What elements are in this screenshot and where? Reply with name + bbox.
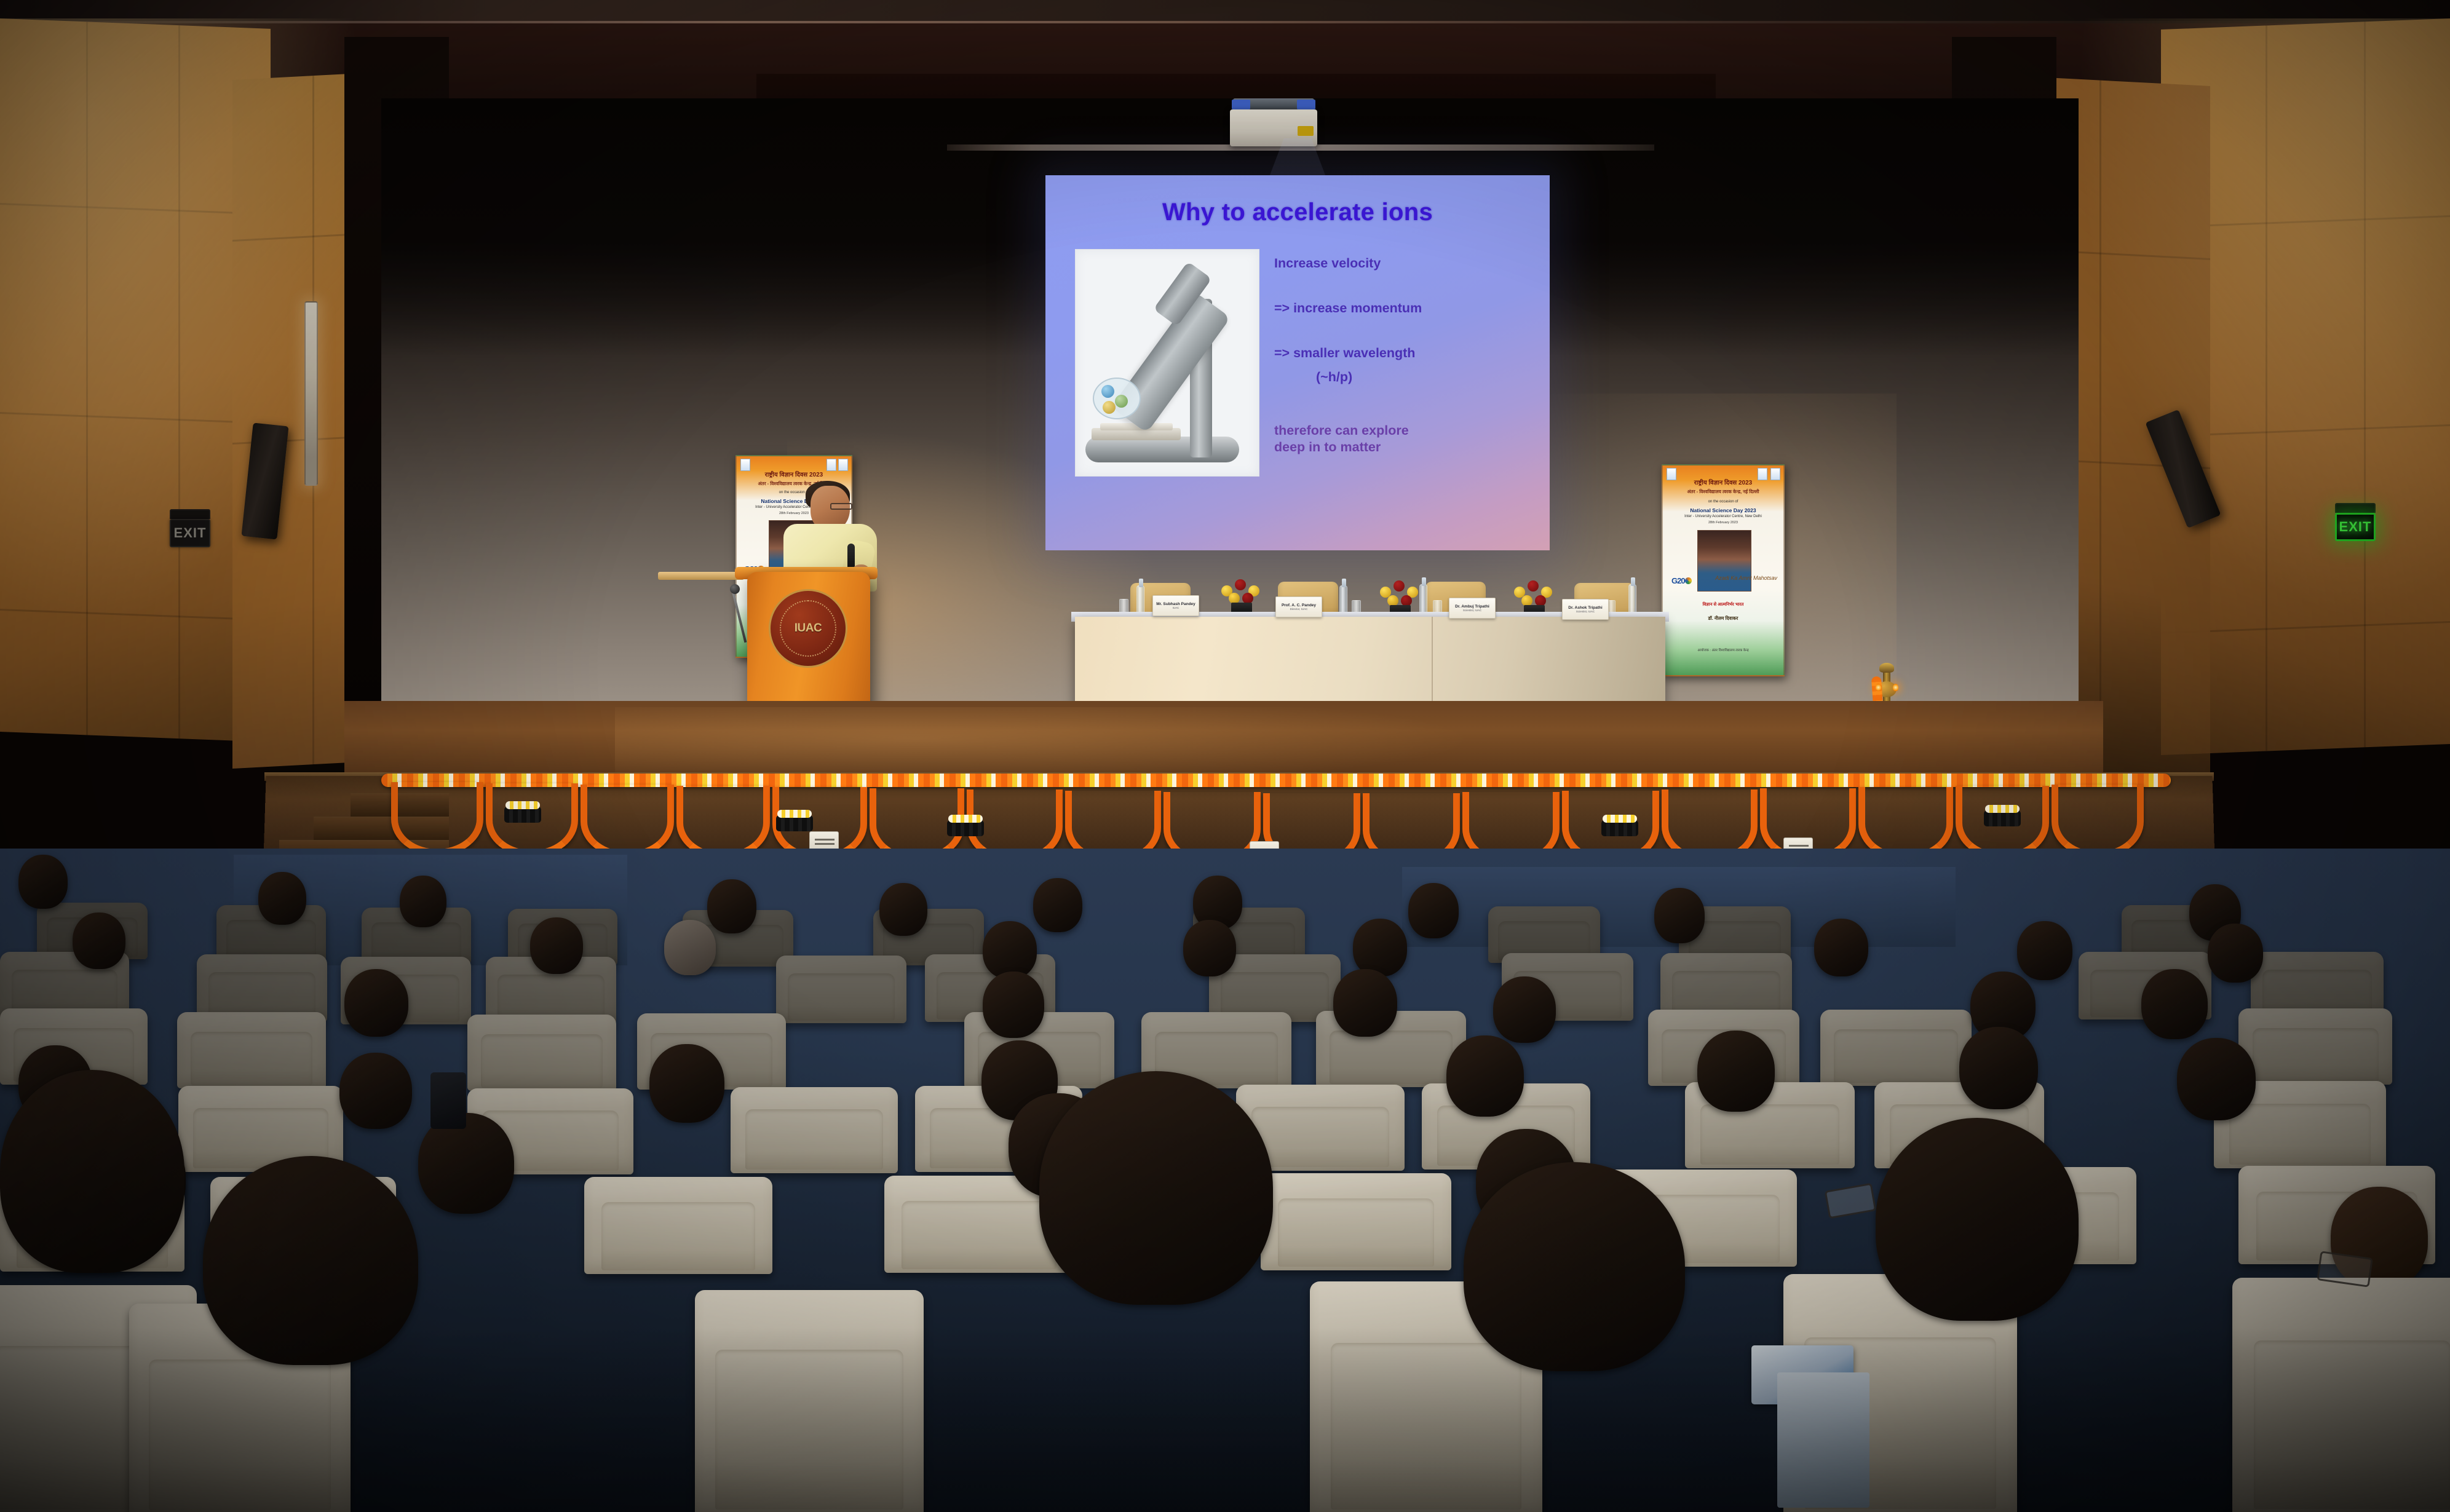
auditorium-seat <box>2238 1008 2392 1085</box>
slide-bullet-1: Increase velocity <box>1274 255 1539 272</box>
projector-mount <box>1233 98 1314 111</box>
auditorium-seat <box>776 956 906 1023</box>
banner-right-guest: डॉ. नीलम दिवाकर <box>1663 615 1783 622</box>
audience-head <box>530 917 583 974</box>
name-card: Dr. Ambuj Tripathi Scientist, IUAC <box>1449 598 1496 619</box>
audience-head <box>707 879 756 933</box>
auditorium-photo: EXIT EXIT Why to accelerate ions <box>0 0 2450 1512</box>
name-card-role: Director, IUAC <box>1290 608 1308 611</box>
slide-bullet-4-line1: therefore can explore <box>1274 422 1539 440</box>
audience-head <box>73 912 125 969</box>
audience-head-foreground <box>1039 1071 1273 1305</box>
audience-head <box>649 1044 724 1123</box>
auditorium-seat <box>1261 1173 1451 1270</box>
audience-head <box>1033 878 1082 932</box>
marigold-swag <box>581 785 674 858</box>
audience-head <box>1353 919 1407 976</box>
auditorium-seat <box>731 1087 898 1173</box>
name-card-role: IUAC <box>1173 606 1179 609</box>
exit-sign-left: EXIT <box>170 519 210 547</box>
slide-bullet-4-line2: deep in to matter <box>1274 439 1539 456</box>
audience-head <box>1183 920 1236 976</box>
garland-tuft <box>1601 820 1638 836</box>
banner-right-national-science-day: राष्ट्रीय विज्ञान दिवस 2023 अंतर - विश्व… <box>1662 464 1785 676</box>
glasses-icon <box>830 503 852 510</box>
name-card-name: Prof. A. C. Pandey <box>1282 603 1316 608</box>
iuac-emblem-label: IUAC <box>795 622 822 635</box>
flower-vase <box>1218 577 1266 615</box>
g20-logo-right: G20 <box>1671 576 1692 585</box>
auditorium-seat <box>467 1015 616 1091</box>
auditorium-seat <box>2232 1278 2450 1512</box>
exit-sign-right: EXIT <box>2335 513 2376 541</box>
garland-tuft <box>776 815 813 831</box>
banner-right-hindi-title: राष्ट्रीय विज्ञान दिवस 2023 <box>1663 478 1783 486</box>
auditorium-seat <box>584 1177 772 1274</box>
auditorium-seat <box>695 1290 924 1512</box>
audience-head <box>1654 888 1705 943</box>
g20-label-right: G20 <box>1671 576 1685 585</box>
audience-head <box>1493 976 1556 1043</box>
mobile-phone-icon <box>430 1072 466 1129</box>
marigold-swag <box>2052 785 2144 858</box>
auditorium-seat <box>177 1012 326 1088</box>
audience-head <box>879 883 927 936</box>
name-card: Dr. Ashok Tripathi Scientist, IUAC <box>1562 599 1609 620</box>
left-wall-acoustic-panels <box>0 18 271 742</box>
iuac-emblem-icon: IUAC <box>769 589 847 668</box>
garland-tuft <box>1984 810 2021 826</box>
banner-right-en-title: National Science Day 2023 <box>1663 507 1783 513</box>
name-card-role: Scientist, IUAC <box>1576 610 1595 613</box>
microphone-head-icon <box>730 584 740 594</box>
audience-head <box>983 972 1044 1038</box>
name-card-name: Dr. Ashok Tripathi <box>1568 606 1602 610</box>
slide-bullet-list: Increase velocity => increase momentum =… <box>1274 255 1539 456</box>
audience-head <box>2177 1038 2256 1120</box>
audience-head <box>1446 1035 1524 1117</box>
slide-bullet-3b: (~h/p) <box>1274 369 1539 386</box>
audience-head <box>339 1053 412 1129</box>
audience-head <box>1814 919 1868 976</box>
auditorium-seat <box>1820 1010 1972 1086</box>
slide-bullet-3: => smaller wavelength <box>1274 345 1539 362</box>
banner-right-date: 28th February 2023 <box>1663 521 1783 524</box>
audience-head <box>1697 1031 1775 1112</box>
name-card-name: Dr. Ambuj Tripathi <box>1455 604 1489 609</box>
audience-head <box>664 920 716 975</box>
podium-side-rail <box>658 572 744 580</box>
audience-head <box>1959 1027 2038 1109</box>
garland-tuft <box>504 807 541 823</box>
exit-sign-hood-right <box>2335 503 2376 513</box>
slide-figure-microscope <box>1075 249 1259 477</box>
audience-head-foreground <box>0 1070 184 1273</box>
ceiling-soffit <box>0 0 2450 21</box>
audience-head <box>2017 921 2072 980</box>
name-card: Mr. Subhash Pandey IUAC <box>1152 595 1199 616</box>
banner-left-hindi-title: राष्ट्रीय विज्ञान दिवस 2023 <box>737 470 851 478</box>
name-card: Prof. A. C. Pandey Director, IUAC <box>1275 596 1322 617</box>
audience-head <box>1408 883 1459 938</box>
banner-right-portrait <box>1697 530 1751 592</box>
audience-head <box>400 876 446 927</box>
audience-head <box>1333 969 1397 1037</box>
slide-bullet-2: => increase momentum <box>1274 300 1539 317</box>
name-card-role: Scientist, IUAC <box>1463 609 1481 612</box>
exit-sign-hood-left <box>170 509 210 519</box>
audience-head <box>258 872 306 925</box>
audience-head <box>18 855 68 909</box>
audience-head <box>344 969 408 1037</box>
presentation-slide: Why to accelerate ions Increase velocity… <box>1045 175 1550 550</box>
azadi-logo-right: Azadi Ka Amrit Mahotsav <box>1715 575 1777 581</box>
slide-title: Why to accelerate ions <box>1045 199 1550 226</box>
audience-head-foreground <box>203 1156 418 1365</box>
banner-right-occasion: on the occasion of <box>1663 500 1783 504</box>
audience-head <box>983 921 1037 979</box>
garland-tuft <box>947 820 984 836</box>
audience-head <box>2141 969 2208 1039</box>
audience-head-foreground <box>1876 1118 2079 1321</box>
audience-head <box>2208 924 2263 983</box>
name-card-name: Mr. Subhash Pandey <box>1156 602 1195 606</box>
banner-right-theme: विज्ञान से आत्मनिर्भर भारत <box>1663 602 1783 608</box>
banner-right-hindi-sub: अंतर - विश्वविद्यालय त्वरक केन्द्र, नई द… <box>1663 489 1783 495</box>
marigold-swag <box>391 782 483 856</box>
audience-head-foreground <box>1464 1162 1685 1371</box>
projection-screen: Why to accelerate ions Increase velocity… <box>1045 175 1550 550</box>
tube-light-fixture <box>304 301 318 486</box>
projector-lens-panel <box>1298 126 1314 136</box>
banner-right-en-sub: Inter - University Accelerator Centre, N… <box>1663 515 1783 518</box>
handout-paper <box>1777 1372 1869 1508</box>
banner-right-footer: आयोजक : अंतर विश्वविद्यालय त्वरक केन्द्र <box>1663 647 1783 652</box>
